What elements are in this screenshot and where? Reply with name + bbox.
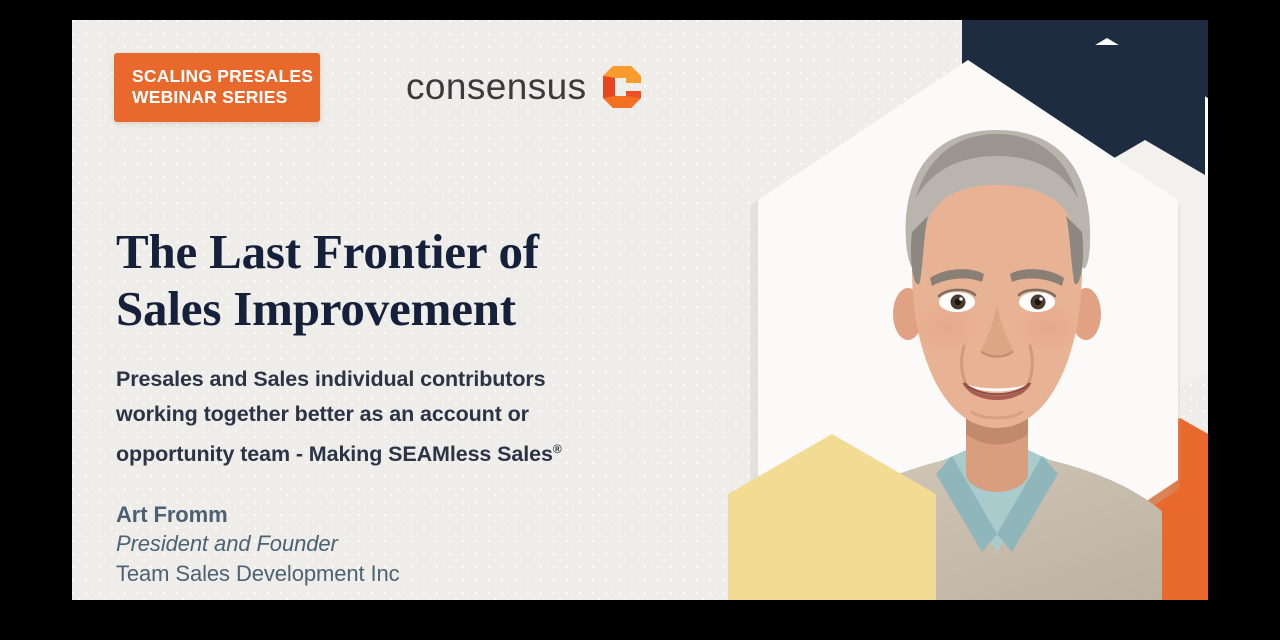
headline-line-1: The Last Frontier of [116,223,636,280]
speaker-block: Art Fromm President and Founder Team Sal… [116,500,556,589]
registered-trademark-symbol: ® [553,442,562,456]
subtitle-line-2: working together better as an account or [116,397,646,432]
subtitle-line-1: Presales and Sales individual contributo… [116,362,646,397]
badge-line-2: WEBINAR SERIES [132,87,306,108]
card-content: SCALING PRESALES WEBINAR SERIES consensu… [114,20,674,600]
speaker-role: President and Founder [116,529,556,559]
decorative-art-layer [632,20,1208,600]
speaker-organization: Team Sales Development Inc [116,559,556,589]
subtitle: Presales and Sales individual contributo… [116,362,646,472]
consensus-c-mark-icon [601,64,645,110]
consensus-wordmark: consensus [406,66,587,108]
speaker-name: Art Fromm [116,500,556,529]
headline-line-2: Sales Improvement [116,280,636,337]
subtitle-line-3: opportunity team - Making SEAMless Sales [116,442,553,466]
subtitle-line-3-wrap: opportunity team - Making SEAMless Sales… [116,432,646,472]
webinar-title-card: SCALING PRESALES WEBINAR SERIES consensu… [72,20,1208,600]
screenshot-root: SCALING PRESALES WEBINAR SERIES consensu… [0,0,1280,640]
badge-line-1: SCALING PRESALES [132,66,306,87]
consensus-logo: consensus [406,64,645,110]
page-title: The Last Frontier of Sales Improvement [116,223,636,337]
webinar-series-badge: SCALING PRESALES WEBINAR SERIES [114,53,320,122]
